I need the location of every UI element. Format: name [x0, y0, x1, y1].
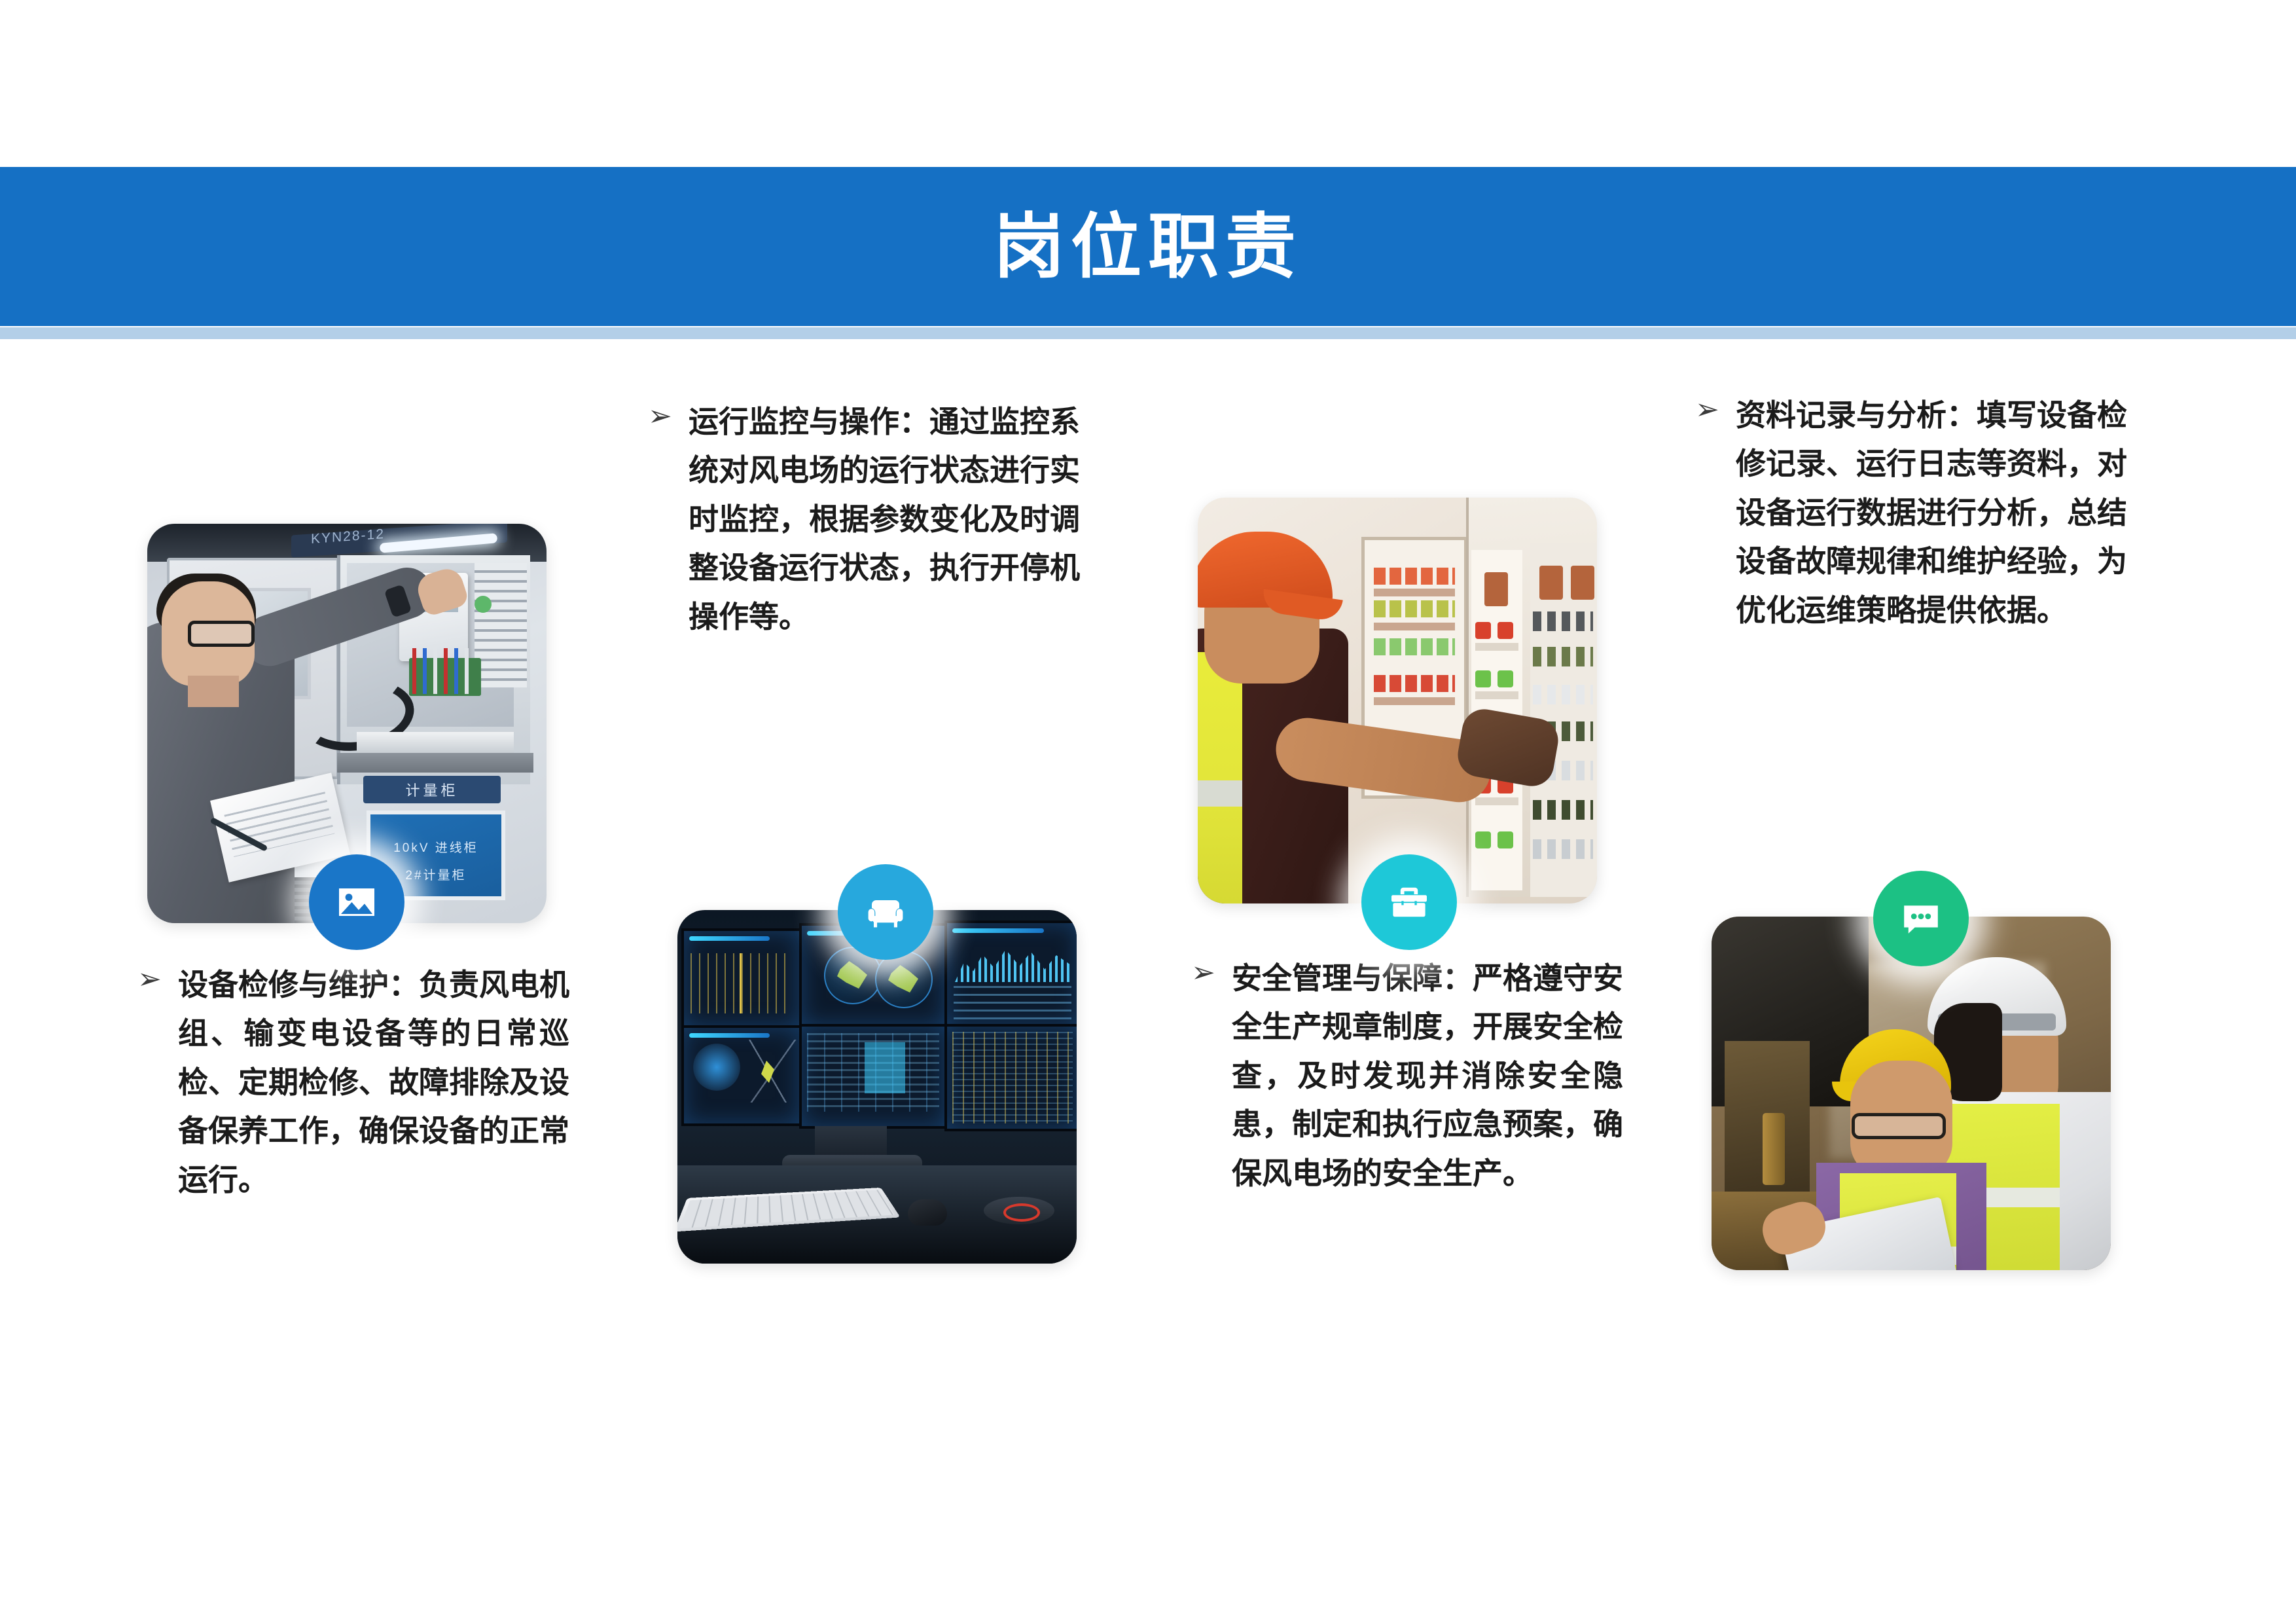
toolbox-icon: [1386, 879, 1433, 926]
responsibility-body-1: 设备检修与维护：负责风电机组、输变电设备等的日常巡检、定期检修、故障排除及设备保…: [137, 960, 569, 1205]
cabinet-plate-line-1: 10kV 进线柜: [370, 838, 501, 856]
image-icon: [333, 879, 380, 926]
banner-underline: [0, 327, 2296, 339]
photo-worker-panel: [1198, 498, 1597, 903]
responsibility-text-1: ➢ 设备检修与维护：负责风电机组、输变电设备等的日常巡检、定期检修、故障排除及设…: [137, 956, 569, 1204]
responsibility-card-2: ➢ 运行监控与操作：通过监控系统对风电场的运行状态进行实时监控，根据参数变化及时…: [628, 367, 1126, 1414]
bullet-arrow-icon: ➢: [137, 956, 178, 1002]
toolbox-icon-badge[interactable]: [1361, 854, 1457, 950]
responsibilities-grid: KYN28-12 计量柜 10kV 进线柜 2: [0, 367, 2296, 1414]
armchair-icon: [862, 888, 909, 936]
photo-control-room: [677, 910, 1077, 1264]
bullet-arrow-icon: ➢: [648, 393, 689, 439]
page-title: 岗位职责: [994, 211, 1302, 282]
chat-bubble-icon: [1897, 895, 1945, 942]
responsibility-text-3: ➢ 安全管理与保障：严格遵守安全生产规章制度，开展安全检查，及时发现并消除安全隐…: [1191, 949, 1623, 1197]
photo-engineers-laptop: [1712, 917, 2111, 1270]
responsibility-body-4: 资料记录与分析：填写设备检修记录、运行日志等资料，对设备运行数据进行分析，总结设…: [1695, 391, 2127, 635]
responsibility-text-2: ➢ 运行监控与操作：通过监控系统对风电场的运行状态进行实时监控，根据参数变化及时…: [648, 393, 1080, 641]
armchair-icon-badge[interactable]: [838, 864, 933, 960]
responsibility-body-3: 安全管理与保障：严格遵守安全生产规章制度，开展安全检查，及时发现并消除安全隐患，…: [1191, 954, 1623, 1198]
responsibility-card-4: ➢ 资料记录与分析：填写设备检修记录、运行日志等资料，对设备运行数据进行分析，总…: [1682, 367, 2179, 1414]
chat-bubble-icon-badge[interactable]: [1873, 871, 1969, 966]
bullet-arrow-icon: ➢: [1695, 386, 1736, 433]
photo-card-2: [677, 910, 1077, 1264]
image-icon-badge[interactable]: [309, 854, 404, 950]
responsibility-body-2: 运行监控与操作：通过监控系统对风电场的运行状态进行实时监控，根据参数变化及时调整…: [648, 397, 1080, 642]
responsibility-card-1: KYN28-12 计量柜 10kV 进线柜 2: [111, 367, 609, 1414]
header-banner: 岗位职责: [0, 167, 2296, 326]
cabinet-label: 计量柜: [363, 776, 501, 803]
responsibility-text-4: ➢ 资料记录与分析：填写设备检修记录、运行日志等资料，对设备运行数据进行分析，总…: [1695, 386, 2127, 634]
photo-card-3: [1198, 498, 1597, 903]
bullet-arrow-icon: ➢: [1191, 949, 1232, 996]
responsibility-card-3: ➢ 安全管理与保障：严格遵守安全生产规章制度，开展安全检查，及时发现并消除安全隐…: [1172, 367, 1669, 1414]
photo-card-4: [1712, 917, 2111, 1270]
